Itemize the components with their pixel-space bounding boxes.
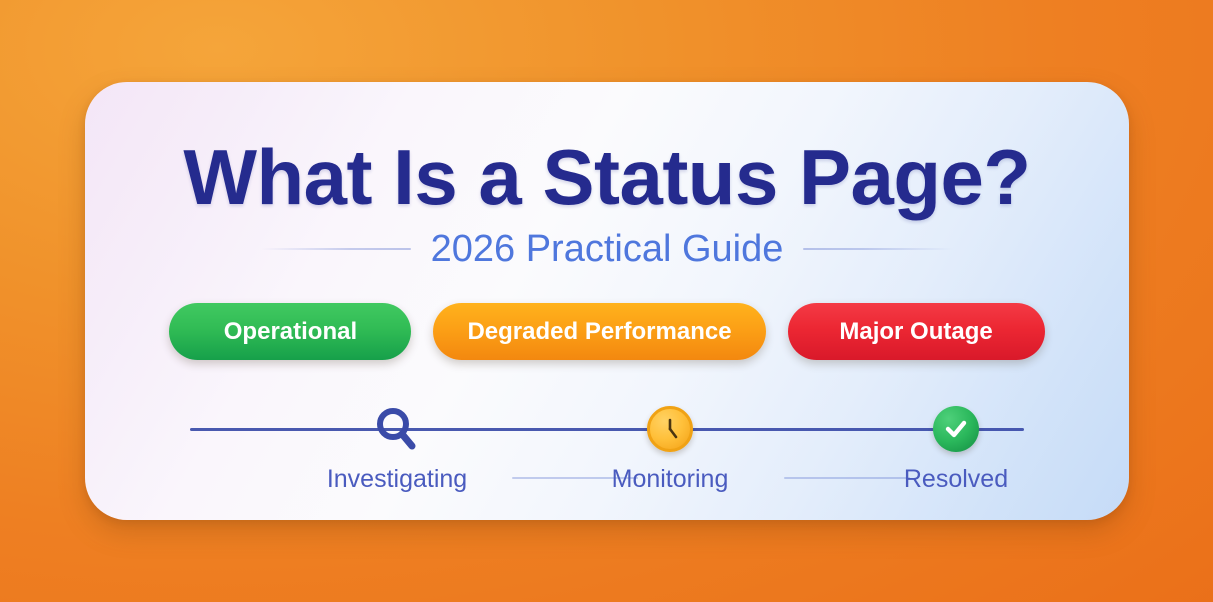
status-badge-label: Operational [224, 318, 357, 346]
check-circle-icon [933, 400, 979, 458]
timeline-step-label: Investigating [327, 467, 467, 492]
subtitle-row: 2026 Practical Guide [85, 230, 1129, 268]
page-title: What Is a Status Page? [85, 138, 1129, 216]
status-badge-major-outage[interactable]: Major Outage [788, 303, 1045, 360]
timeline-step-label: Resolved [904, 467, 1008, 492]
status-badge-group: Operational Degraded Performance Major O… [85, 303, 1129, 360]
timeline-step-resolved[interactable]: Resolved [866, 400, 1046, 492]
timeline-step-label: Monitoring [612, 467, 729, 492]
status-badge-degraded-performance[interactable]: Degraded Performance [433, 303, 765, 360]
page-subtitle: 2026 Practical Guide [431, 230, 784, 268]
subtitle-rule-right [803, 248, 953, 250]
timeline-step-monitoring[interactable]: Monitoring [580, 400, 760, 492]
status-badge-operational[interactable]: Operational [169, 303, 411, 360]
status-badge-label: Degraded Performance [467, 318, 731, 346]
magnifying-glass-icon [371, 400, 423, 458]
clock-icon [647, 400, 693, 458]
timeline-nodes: Investigating Monitoring [190, 400, 1024, 495]
incident-timeline: Investigating Monitoring [190, 400, 1024, 495]
timeline-step-investigating[interactable]: Investigating [307, 400, 487, 492]
status-badge-label: Major Outage [839, 318, 992, 346]
subtitle-rule-left [261, 248, 411, 250]
status-page-card: What Is a Status Page? 2026 Practical Gu… [85, 82, 1129, 520]
